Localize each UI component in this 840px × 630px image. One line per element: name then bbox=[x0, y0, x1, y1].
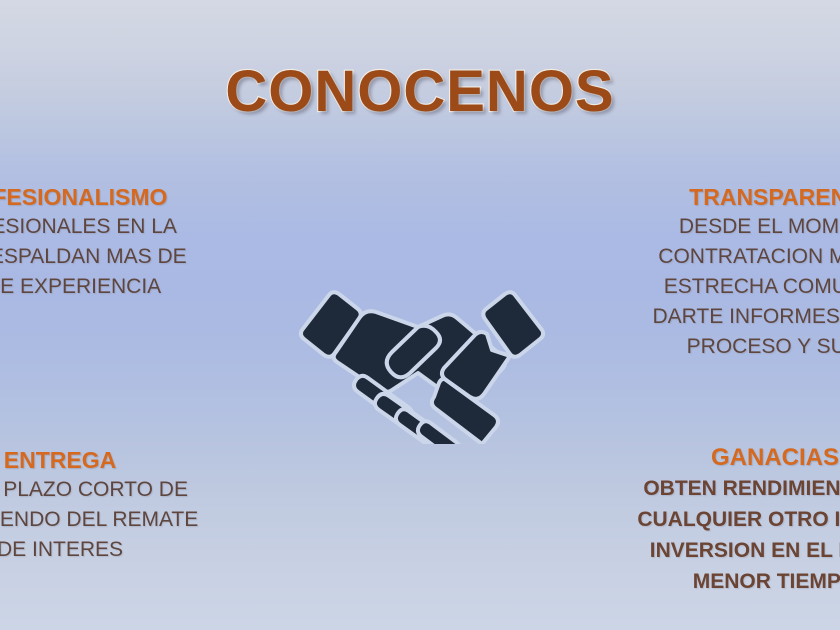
block-transparencia-line-3: ESTRECHA COMUNICAC bbox=[628, 272, 840, 302]
block-profesionalismo-line-2: NOS RESPALDAN MAS DE bbox=[0, 242, 205, 272]
block-transparencia-line-4: DARTE INFORMES DETALL bbox=[628, 302, 840, 332]
block-transparencia: TRANSPARENCIA DESDE EL MOMENTO CONTRATAC… bbox=[628, 182, 840, 362]
page-title: CONOCENOS bbox=[0, 58, 840, 125]
block-profesionalismo-line-3: OS DE EXPERIENCIA bbox=[0, 272, 205, 302]
block-transparencia-heading: TRANSPARENCIA bbox=[628, 182, 840, 212]
block-entrega-line-3: DE INTERES bbox=[0, 535, 210, 565]
block-ganacias-line-3: INVERSION EN EL MERC bbox=[610, 535, 840, 566]
block-transparencia-line-1: DESDE EL MOMENTO bbox=[628, 212, 840, 242]
slide-canvas: CONOCENOS PROFESIONALISMO PROFESIONALES … bbox=[0, 0, 840, 630]
block-entrega-heading: ENTREGA bbox=[0, 445, 210, 475]
block-entrega-line-1: DE UN PLAZO CORTO DE bbox=[0, 475, 210, 505]
block-ganacias-line-4: MENOR TIEMPO bbox=[610, 566, 840, 597]
block-transparencia-line-2: CONTRATACION MANTEN bbox=[628, 242, 840, 272]
block-ganacias-heading: GANACIAS bbox=[610, 443, 840, 473]
block-ganacias-line-2: CUALQUIER OTRO INSTRU bbox=[610, 504, 840, 535]
block-profesionalismo: PROFESIONALISMO PROFESIONALES EN LA NOS … bbox=[0, 182, 205, 302]
block-transparencia-line-5: PROCESO Y SU AVA bbox=[628, 332, 840, 362]
block-entrega-line-2: EPENDIENDO DEL REMATE bbox=[0, 505, 210, 535]
block-profesionalismo-line-1: PROFESIONALES EN LA bbox=[0, 212, 205, 242]
block-ganacias-line-1: OBTEN RENDIMIENTOS M bbox=[610, 473, 840, 504]
handshake-icon bbox=[296, 276, 548, 444]
block-profesionalismo-heading: PROFESIONALISMO bbox=[0, 182, 205, 212]
block-entrega: ENTREGA DE UN PLAZO CORTO DE EPENDIENDO … bbox=[0, 445, 210, 565]
block-ganacias: GANACIAS OBTEN RENDIMIENTOS M CUALQUIER … bbox=[610, 443, 840, 597]
